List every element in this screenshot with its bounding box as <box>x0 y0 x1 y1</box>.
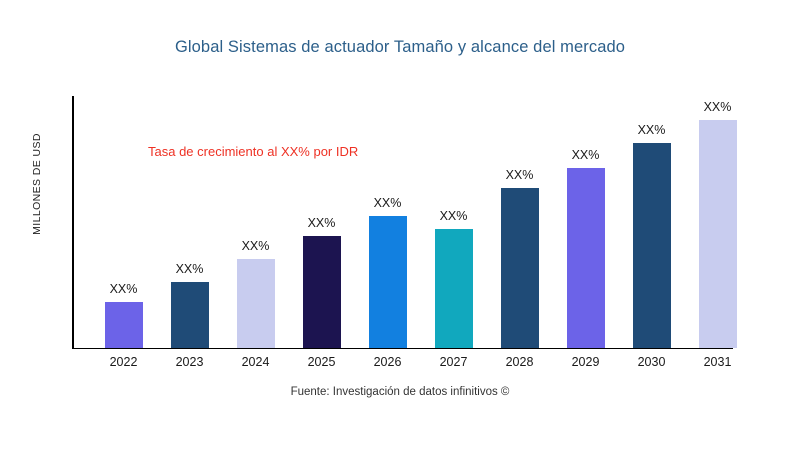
source-footnote: Fuente: Investigación de datos infinitiv… <box>0 386 800 398</box>
bar-value-label-2025: XX% <box>292 216 352 230</box>
plot-area: XX%2022XX%2023XX%2024XX%2025XX%2026XX%20… <box>0 0 800 450</box>
bar-value-label-2024: XX% <box>226 239 286 253</box>
x-tick-label-2030: 2030 <box>622 355 682 369</box>
bar-2024 <box>237 259 275 348</box>
bar-value-label-2029: XX% <box>556 148 616 162</box>
x-tick-label-2026: 2026 <box>358 355 418 369</box>
bar-2030 <box>633 143 671 348</box>
x-tick-label-2029: 2029 <box>556 355 616 369</box>
bar-value-label-2031: XX% <box>688 100 748 114</box>
bar-value-label-2028: XX% <box>490 168 550 182</box>
x-tick-label-2025: 2025 <box>292 355 352 369</box>
x-tick-label-2023: 2023 <box>160 355 220 369</box>
x-tick-label-2024: 2024 <box>226 355 286 369</box>
bar-2023 <box>171 282 209 348</box>
bar-2031 <box>699 120 737 348</box>
x-tick-label-2027: 2027 <box>424 355 484 369</box>
growth-rate-annotation: Tasa de crecimiento al XX% por IDR <box>148 144 358 159</box>
bar-value-label-2023: XX% <box>160 262 220 276</box>
bar-value-label-2030: XX% <box>622 123 682 137</box>
bar-2026 <box>369 216 407 348</box>
x-tick-label-2028: 2028 <box>490 355 550 369</box>
bar-2027 <box>435 229 473 348</box>
bar-value-label-2027: XX% <box>424 209 484 223</box>
chart-container: Global Sistemas de actuador Tamaño y alc… <box>0 0 800 450</box>
bar-2022 <box>105 302 143 348</box>
bar-value-label-2026: XX% <box>358 196 418 210</box>
x-tick-label-2031: 2031 <box>688 355 748 369</box>
x-tick-label-2022: 2022 <box>94 355 154 369</box>
bar-2029 <box>567 168 605 348</box>
bar-value-label-2022: XX% <box>94 282 154 296</box>
bar-2025 <box>303 236 341 348</box>
bar-2028 <box>501 188 539 348</box>
